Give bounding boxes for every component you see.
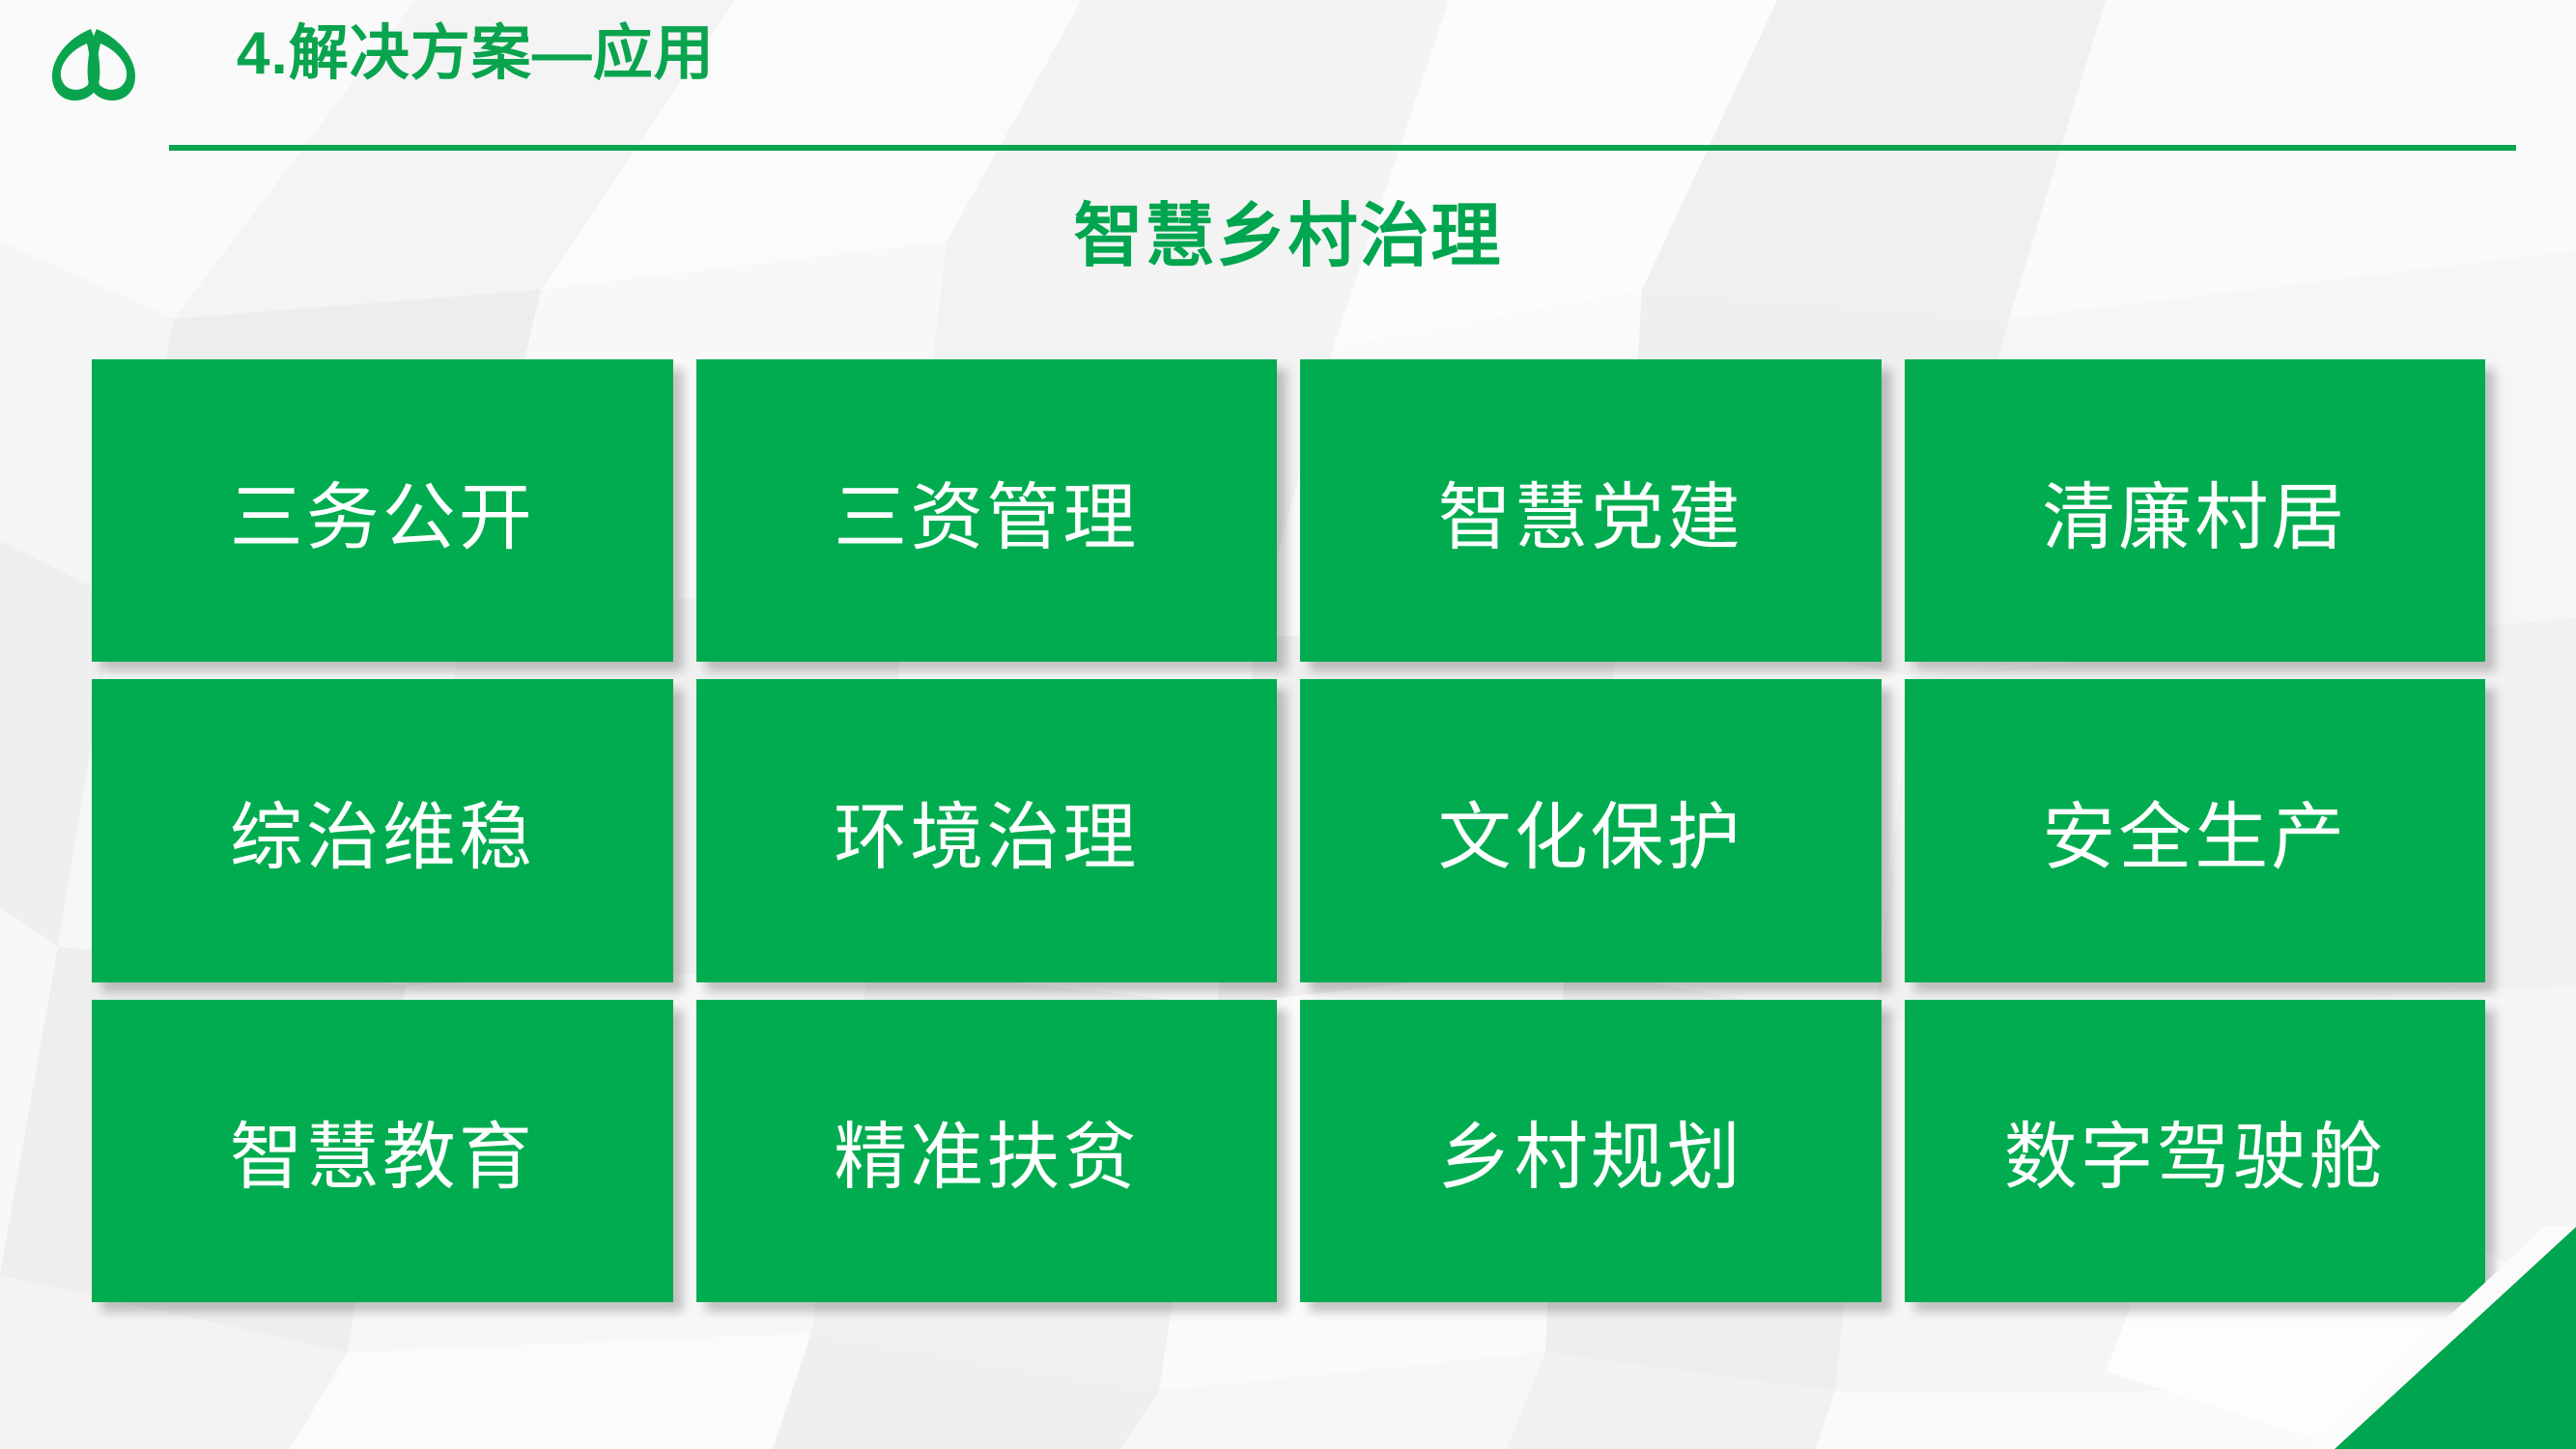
tile-san-wu-gong-kai[interactable]: 三务公开 bbox=[92, 359, 673, 662]
tile-label: 安全生产 bbox=[2042, 778, 2347, 884]
tile-label: 三资管理 bbox=[834, 458, 1139, 564]
leaf-logo-icon bbox=[42, 12, 151, 104]
tile-label: 智慧党建 bbox=[1438, 458, 1743, 564]
tile-jing-zhun-fu-pin[interactable]: 精准扶贫 bbox=[696, 1000, 1278, 1302]
tile-xiang-cun-gui-hua[interactable]: 乡村规划 bbox=[1300, 1000, 1882, 1302]
tile-huan-jing-zhi-li[interactable]: 环境治理 bbox=[696, 679, 1278, 981]
tile-label: 智慧教育 bbox=[230, 1097, 535, 1204]
tile-label: 精准扶贫 bbox=[834, 1097, 1139, 1204]
tile-label: 综治维稳 bbox=[230, 778, 535, 884]
tile-an-quan-sheng-chan[interactable]: 安全生产 bbox=[1905, 679, 2486, 981]
slide-header: 4.解决方案—应用 bbox=[0, 0, 2576, 155]
tile-label: 三务公开 bbox=[230, 458, 535, 564]
tile-shu-zi-jia-shi-cang[interactable]: 数字驾驶舱 bbox=[1905, 1000, 2486, 1302]
header-divider bbox=[169, 145, 2516, 151]
page-title: 4.解决方案—应用 bbox=[237, 8, 715, 100]
tile-wen-hua-bao-hu[interactable]: 文化保护 bbox=[1300, 679, 1882, 981]
tile-qing-lian-cun-ju[interactable]: 清廉村居 bbox=[1905, 359, 2486, 662]
tile-label: 清廉村居 bbox=[2042, 458, 2347, 564]
tile-zhi-hui-dang-jian[interactable]: 智慧党建 bbox=[1300, 359, 1882, 662]
tile-label: 乡村规划 bbox=[1438, 1097, 1743, 1204]
slide-root: 4.解决方案—应用 智慧乡村治理 三务公开 三资管理 智慧党建 清廉村居 综治维… bbox=[0, 0, 2576, 1449]
tile-label: 环境治理 bbox=[834, 778, 1139, 884]
tile-zhi-hui-jiao-yu[interactable]: 智慧教育 bbox=[92, 1000, 673, 1302]
tile-san-zi-guan-li[interactable]: 三资管理 bbox=[696, 359, 1278, 662]
tile-zong-zhi-wei-wen[interactable]: 综治维稳 bbox=[92, 679, 673, 981]
tile-label: 数字驾驶舱 bbox=[2004, 1097, 2386, 1204]
tile-label: 文化保护 bbox=[1438, 778, 1743, 884]
application-tile-grid: 三务公开 三资管理 智慧党建 清廉村居 综治维稳 环境治理 文化保护 安全生产 … bbox=[92, 359, 2485, 1302]
section-subtitle: 智慧乡村治理 bbox=[0, 179, 2576, 280]
